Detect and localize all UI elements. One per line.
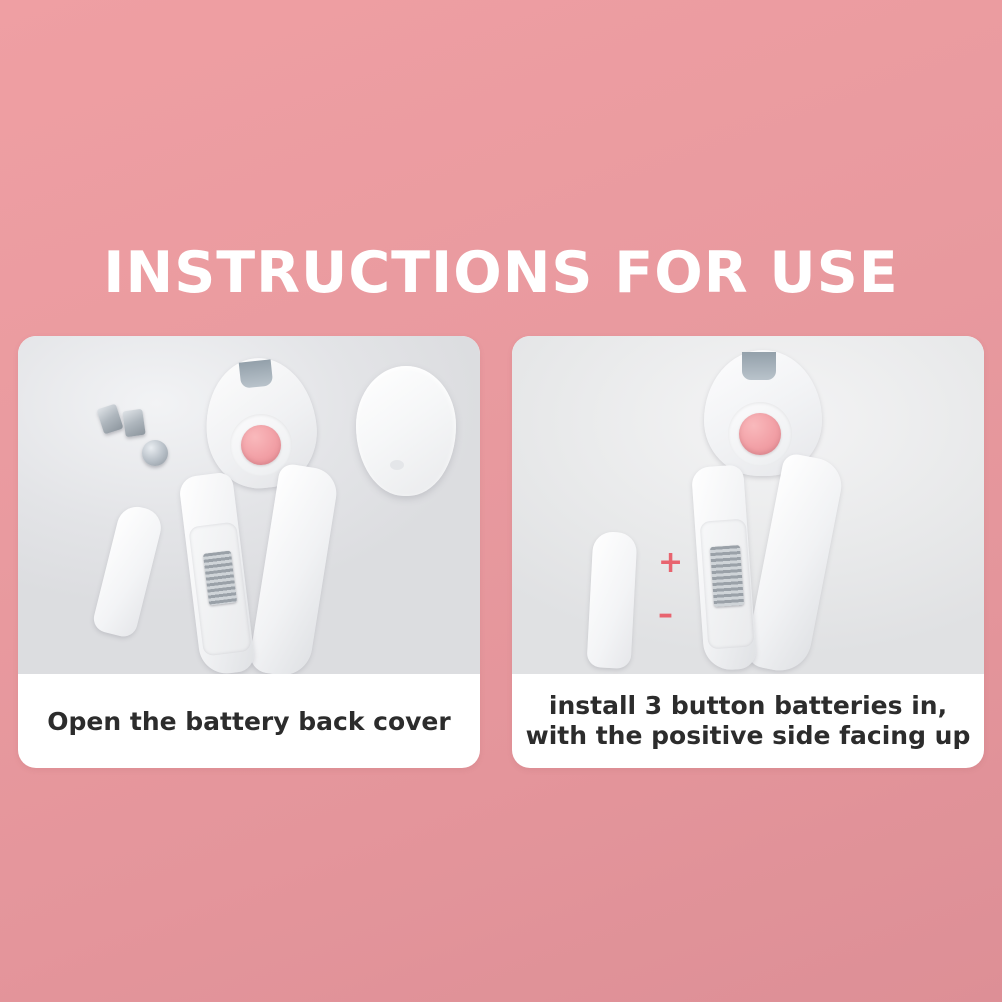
photo-step-2: + – [512, 336, 984, 674]
loose-button-battery-2 [122, 409, 145, 438]
clipper-handle-right [248, 463, 340, 674]
power-button-step2[interactable] [739, 413, 781, 455]
plus-symbol: + [658, 548, 683, 578]
instruction-card-step-1: Open the battery back cover [18, 336, 480, 768]
clipper-handle-right-step2 [744, 452, 846, 674]
minus-symbol: – [658, 600, 673, 630]
caption-step-2-line-2: with the positive side facing up [526, 721, 971, 750]
instruction-card-step-2: + – install 3 button batteries in, with … [512, 336, 984, 768]
page-title: INSTRUCTIONS FOR USE [0, 242, 1002, 305]
clipper-blade-notch-step2 [742, 352, 776, 380]
clipper-blade-notch [239, 359, 274, 388]
battery-back-cover [91, 503, 165, 640]
caption-step-2: install 3 button batteries in, with the … [512, 674, 984, 768]
loose-button-battery-3 [142, 440, 168, 466]
nail-clipper-body-step2 [672, 350, 912, 674]
loose-button-battery-1 [96, 404, 123, 435]
power-button[interactable] [241, 425, 281, 465]
caption-step-2-line-1: install 3 button batteries in, [549, 691, 947, 720]
battery-back-cover-step2 [586, 531, 637, 669]
cap-highlight-dot [390, 460, 404, 470]
clear-protective-cap [356, 366, 456, 496]
photo-step-1 [18, 336, 480, 674]
poster-root: INSTRUCTIONS FOR USE [0, 0, 1002, 1002]
battery-stack-step2 [710, 545, 744, 607]
caption-step-1: Open the battery back cover [18, 674, 480, 768]
